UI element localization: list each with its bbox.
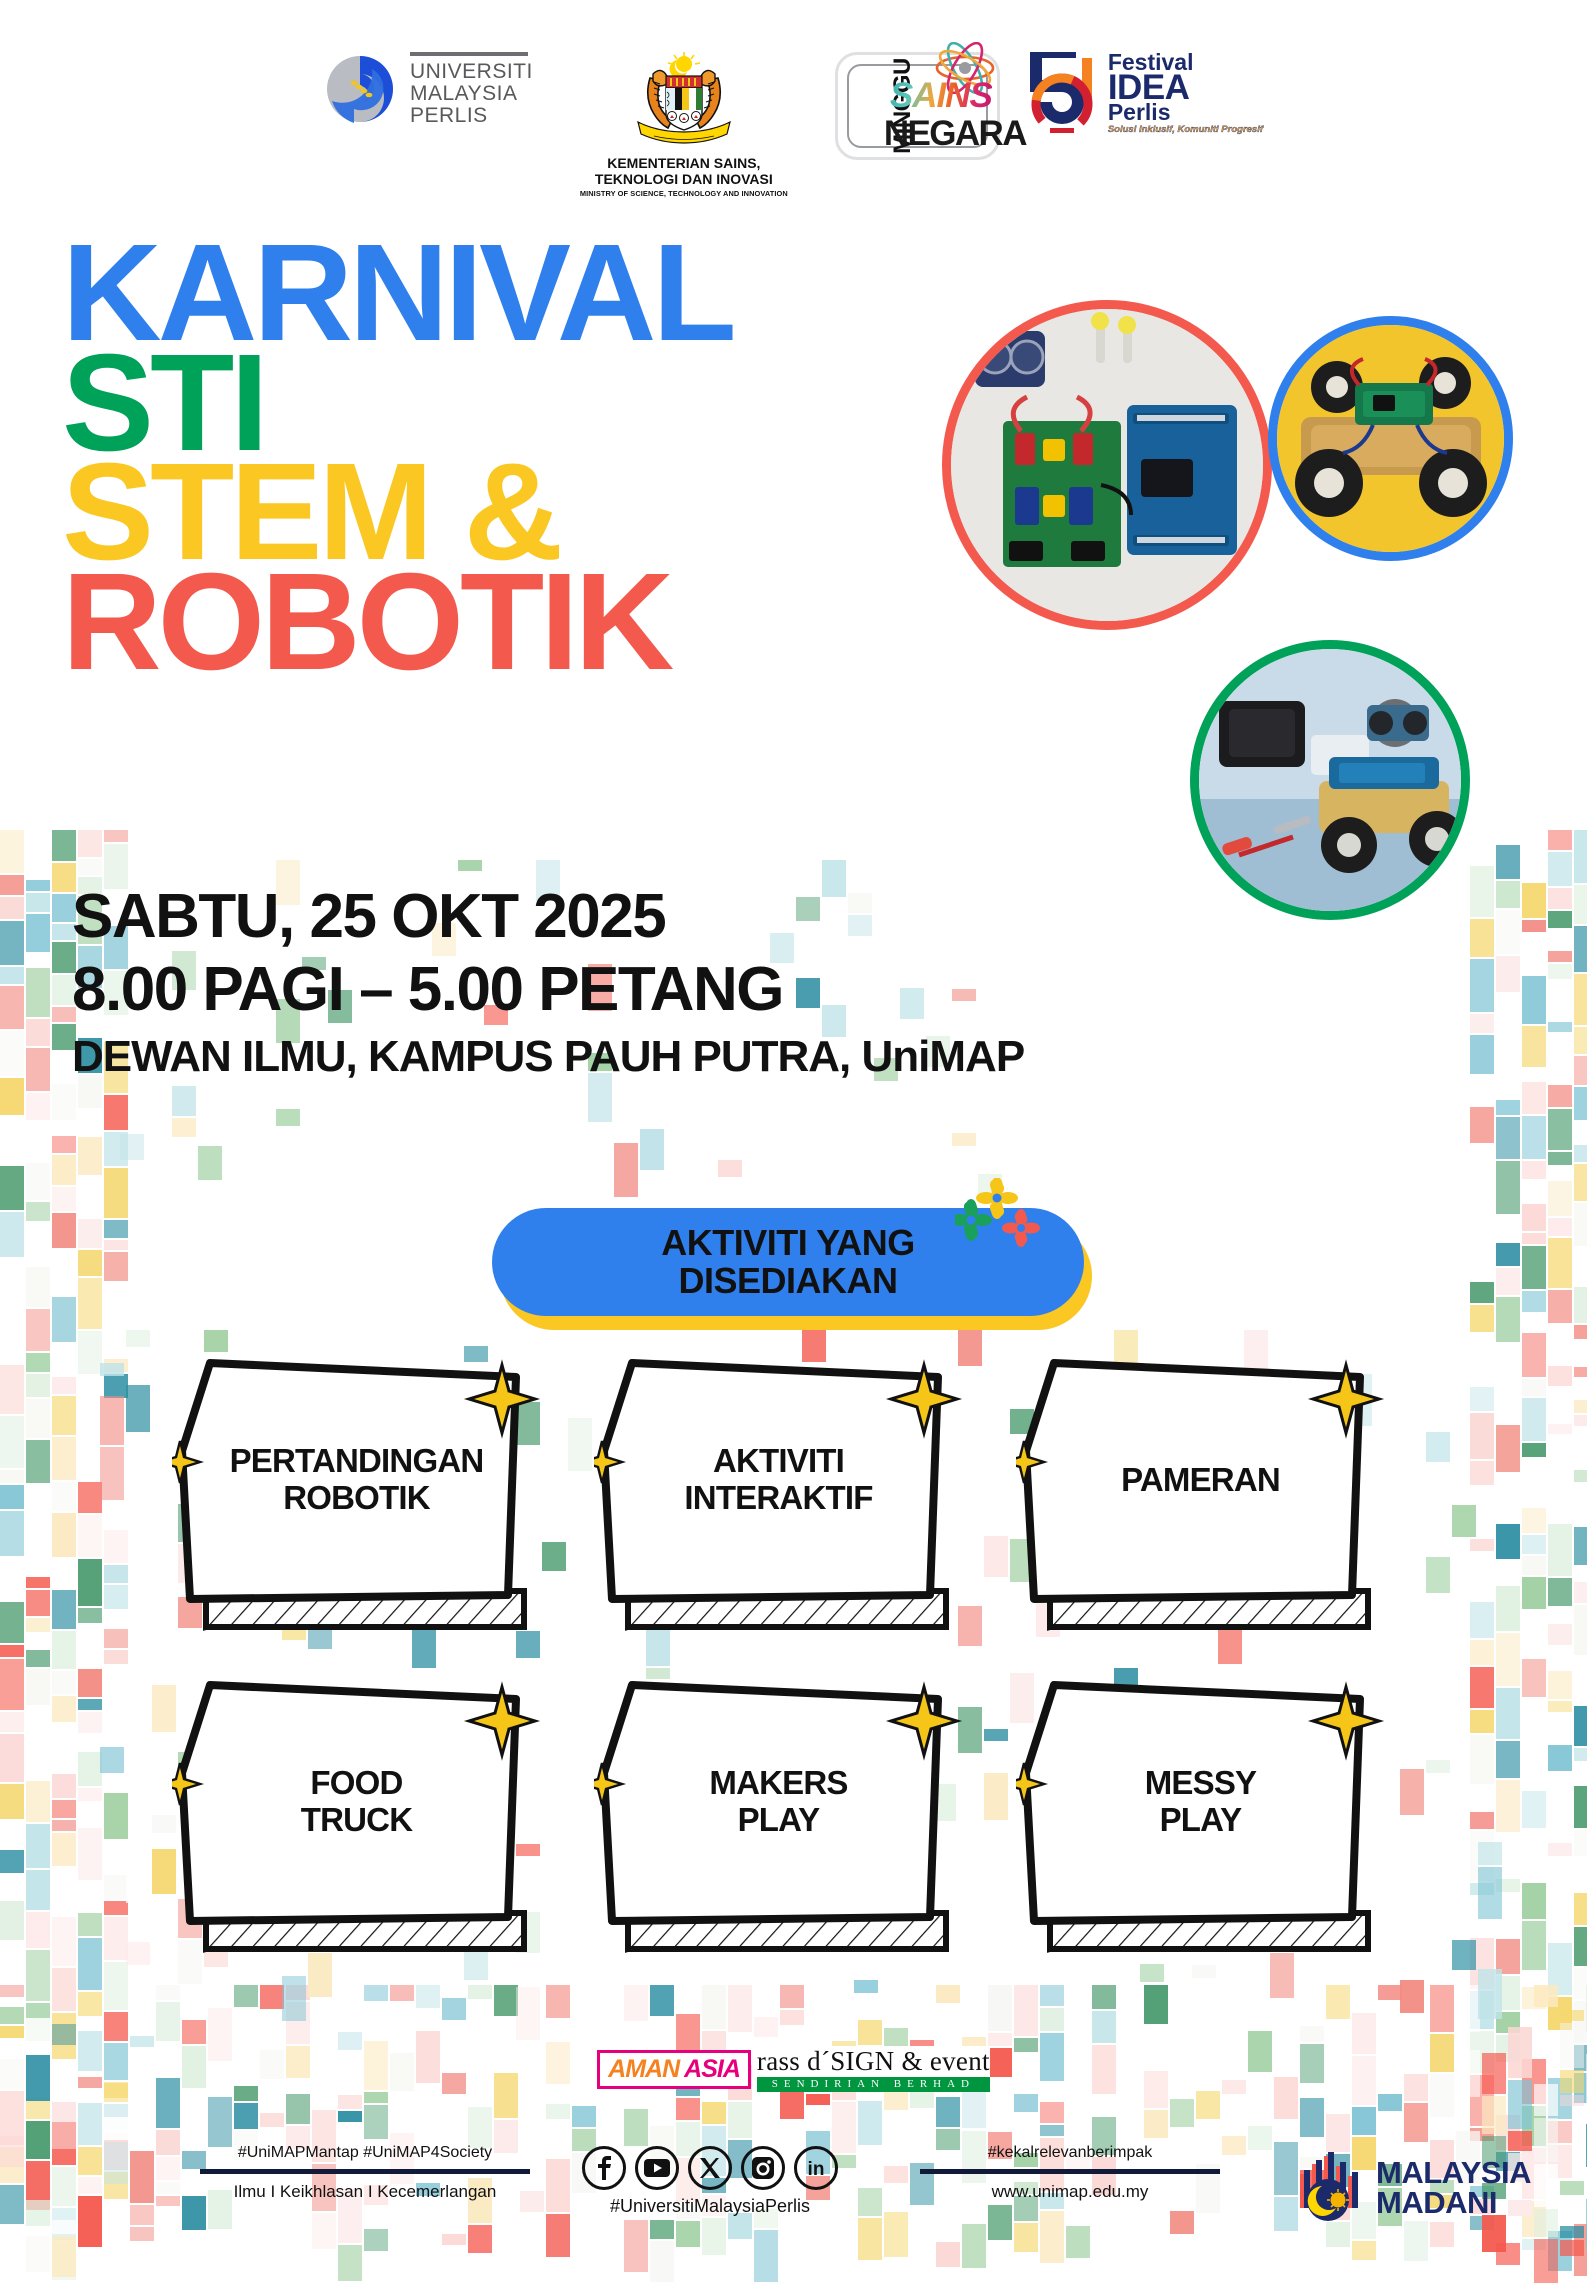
activity-card[interactable]: PERTANDINGAN ROBOTIK [172,1355,572,1645]
activity-label-line2: PLAY [1160,1802,1242,1839]
madani-line1: MALAYSIA [1376,2158,1531,2187]
idea-numeral-icon [1026,52,1100,136]
aman-word1: AMAN [608,2055,679,2084]
footer-social-handle: #UniversitiMalaysiaPerlis [520,2196,900,2217]
ministry-line1: KEMENTERIAN SAINS, [595,156,773,172]
partner-logo-strip: UNIVERSITI MALAYSIA PERLIS [0,52,1587,198]
poster-title: KARNIVAL STI STEM & ROBOTIK [62,240,733,677]
x-icon[interactable] [688,2146,732,2190]
activity-card[interactable]: MAKERS PLAY [594,1677,994,1967]
unimap-swirl-icon [324,53,400,125]
footer-social: in #UniversitiMalaysiaPerlis [520,2146,900,2217]
unimap-logo: UNIVERSITI MALAYSIA PERLIS [324,52,533,126]
photo-robot-car-desk [1190,640,1470,920]
linkedin-icon[interactable]: in [794,2146,838,2190]
activity-label-line1: MESSY [1145,1765,1257,1802]
malaysia-madani-logo: MALAYSIA MADANI [1290,2148,1531,2227]
activity-label-line1: PERTANDINGAN [230,1443,484,1480]
idea-tagline: Solusi Inklusif, Komuniti Progresif [1108,125,1263,135]
ministry-logo: KEMENTERIAN SAINS, TEKNOLOGI DAN INOVASI… [559,52,809,198]
msn-word-sains: SAINS [890,81,992,111]
madani-emblem-icon [1290,2148,1366,2227]
event-venue: DEWAN ILMU, KAMPUS PAUH PUTRA, UniMAP [72,1028,1024,1085]
idea-line3: Perlis [1108,103,1263,123]
sponsor-logos: AMAN ASIA rass d´SIGN & event SENDIRIAN … [0,2046,1587,2092]
facebook-icon[interactable] [582,2146,626,2190]
malaysia-coat-of-arms-icon [620,52,748,153]
activity-label-line2: ROBOTIK [283,1480,430,1517]
footer-hashtag-right: #kekalrelevanberimpak [920,2144,1220,2162]
rass-design-logo: rass d´SIGN & event SENDIRIAN BERHAD [757,2046,990,2092]
ministry-sub: MINISTRY OF SCIENCE, TECHNOLOGY AND INNO… [580,189,788,198]
activities-grid: PERTANDINGAN ROBOTIK AKTIVITI INTERAKTIF [0,1355,1587,1967]
footer-rule-left [200,2169,530,2174]
footer-motto: Ilmu I Keikhlasan I Kecemerlangan [200,2182,530,2202]
activities-row-2: FOOD TRUCK MAKERS PLAY [0,1677,1587,1967]
footer-website: www.unimap.edu.my [920,2182,1220,2202]
activity-label-line2: INTERAKTIF [684,1480,872,1517]
youtube-icon[interactable] [635,2146,679,2190]
unimap-name-line3: PERLIS [410,105,533,127]
activity-label-line2: PLAY [738,1802,820,1839]
footer-left: #UniMAPMantap #UniMAP4Society Ilmu I Kei… [200,2144,530,2202]
rass-name: rass d´SIGN & event [757,2046,990,2077]
minggu-sains-negara-logo: MINGGU SAINS NEGARA [835,52,1000,160]
poster-footer: #UniMAPMantap #UniMAP4Society Ilmu I Kei… [0,2140,1587,2245]
activity-label-line1: MAKERS [709,1765,847,1802]
banner-line1: AKTIVITI YANG [661,1224,915,1262]
activity-card[interactable]: MESSY PLAY [1016,1677,1416,1967]
activity-card[interactable]: FOOD TRUCK [172,1677,572,1967]
rass-sub: SENDIRIAN BERHAD [757,2077,990,2092]
title-line-robotik: ROBOTIK [62,569,733,677]
flower-decorations-icon [955,1178,1045,1265]
madani-line2: MADANI [1376,2188,1531,2217]
unimap-name-line1: UNIVERSITI [410,61,533,83]
activity-label-line1: FOOD [310,1765,402,1802]
instagram-icon[interactable] [741,2146,785,2190]
aman-word2: ASIA [684,2055,740,2084]
svg-text:in: in [808,2159,825,2179]
festival-idea-logo: Festival IDEA Perlis Solusi Inklusif, Ko… [1026,52,1263,136]
event-time: 8.00 PAGI – 5.00 PETANG [72,953,1024,1026]
event-date: SABTU, 25 OKT 2025 [72,880,1024,953]
footer-right: #kekalrelevanberimpak www.unimap.edu.my [920,2144,1220,2202]
unimap-name-line2: MALAYSIA [410,83,533,105]
ministry-line2: TEKNOLOGI DAN INOVASI [595,172,773,188]
footer-rule-right [920,2169,1220,2174]
event-details: SABTU, 25 OKT 2025 8.00 PAGI – 5.00 PETA… [72,880,1024,1086]
activity-card[interactable]: AKTIVITI INTERAKTIF [594,1355,994,1645]
photo-robot-car-yellow [1268,316,1513,561]
aman-asia-logo: AMAN ASIA [597,2050,751,2089]
activity-label-line1: PAMERAN [1121,1462,1280,1499]
activity-card[interactable]: PAMERAN [1016,1355,1416,1645]
banner-line2: DISEDIAKAN [678,1262,897,1300]
footer-hashtags-left: #UniMAPMantap #UniMAP4Society [200,2144,530,2162]
unimap-rule [410,52,528,56]
activities-row-1: PERTANDINGAN ROBOTIK AKTIVITI INTERAKTIF [0,1355,1587,1645]
activity-label-line2: TRUCK [301,1802,412,1839]
activity-label-line1: AKTIVITI [713,1443,844,1480]
photo-electronics-breadboard [942,300,1272,630]
msn-word-negara: NEGARA [884,119,1026,149]
poster-page: UNIVERSITI MALAYSIA PERLIS [0,0,1587,2245]
